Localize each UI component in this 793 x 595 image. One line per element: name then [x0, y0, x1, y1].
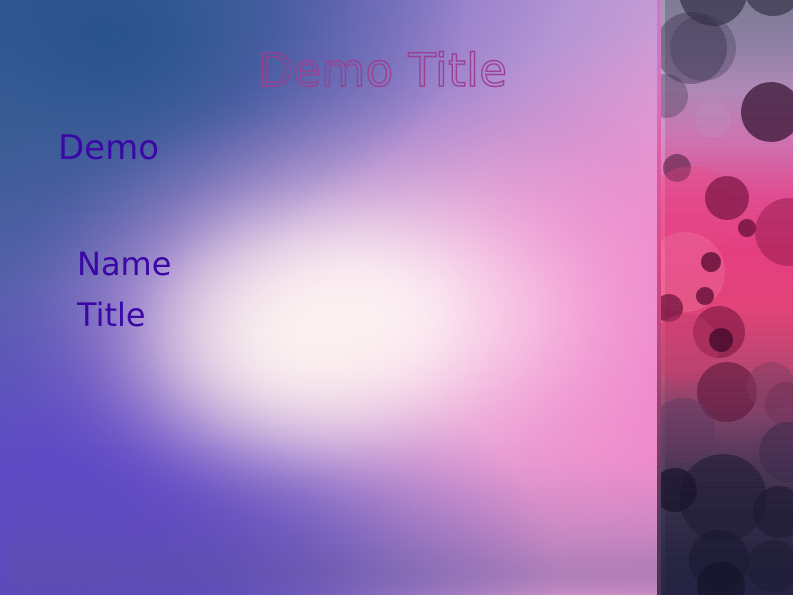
decorative-bubble: [695, 102, 731, 138]
decorative-bubble: [705, 176, 749, 220]
slide-title[interactable]: Demo Title: [258, 44, 507, 97]
presentation-slide: Demo Title Demo Name Title: [0, 0, 793, 595]
decorative-bubble: [759, 422, 793, 482]
bubbles-graphic-panel: [661, 0, 793, 595]
decorative-bubble: [741, 82, 793, 142]
decorative-bubble: [738, 219, 756, 237]
slide-subtitle[interactable]: Demo: [58, 128, 159, 168]
decorative-bubble: [753, 486, 793, 538]
decorative-bubble: [755, 198, 793, 266]
decorative-bubble: [743, 0, 793, 16]
author-name[interactable]: Name: [77, 245, 171, 283]
author-title[interactable]: Title: [77, 296, 146, 334]
decorative-bubble: [696, 287, 714, 305]
decorative-bubble: [747, 540, 793, 592]
decorative-bubble: [701, 252, 721, 272]
decorative-bubble: [670, 15, 736, 81]
decorative-bubble: [709, 328, 733, 352]
